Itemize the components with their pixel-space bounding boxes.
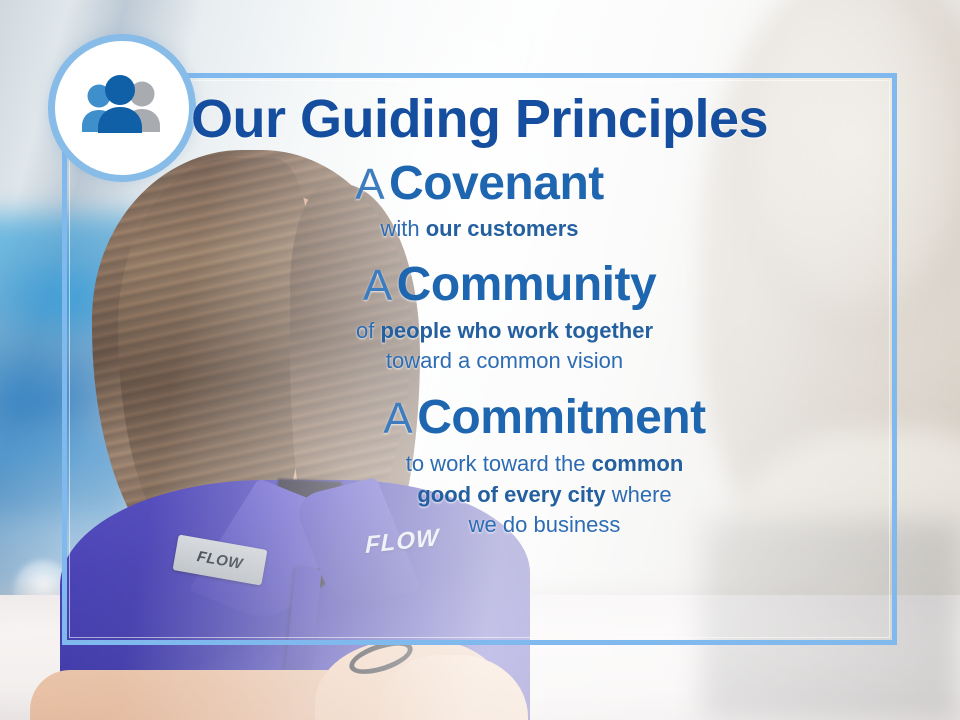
principle-subtext: with our customers — [92, 214, 867, 244]
principle-headline: A Commitment — [222, 392, 867, 445]
subtext-segment: toward a common vision — [386, 348, 623, 373]
subtext-segment-bold: good of every city — [417, 482, 605, 507]
subtext-segment: we do business — [469, 512, 621, 537]
principle-article: A — [355, 160, 384, 209]
principle-keyword: Commitment — [417, 391, 705, 444]
text-content: Our Guiding Principles A Covenant with o… — [62, 73, 897, 645]
subtext-segment-bold: common — [592, 451, 684, 476]
guiding-principles-graphic: FLOW FLOW Our Guiding Principles — [0, 0, 960, 720]
subtext-segment: of — [356, 318, 380, 343]
subtext-segment-bold: people who work together — [380, 318, 653, 343]
principle-headline: A Covenant — [92, 158, 867, 211]
principle-keyword: Community — [397, 258, 657, 311]
page-title: Our Guiding Principles — [92, 91, 867, 148]
subtext-segment: where — [606, 482, 672, 507]
subtext-segment-bold: our customers — [426, 216, 579, 241]
principle-commitment: A Commitment to work toward the common g… — [92, 392, 867, 540]
subtext-segment: to work toward the — [406, 451, 592, 476]
subtext-segment: with — [380, 216, 425, 241]
principle-headline: A Community — [152, 259, 867, 312]
principle-subtext: of people who work together toward a com… — [152, 316, 867, 377]
principle-article: A — [383, 394, 412, 443]
principle-keyword: Covenant — [389, 157, 604, 210]
principle-subtext: to work toward the common good of every … — [222, 449, 867, 540]
principle-article: A — [363, 261, 392, 310]
principle-covenant: A Covenant with our customers — [92, 158, 867, 245]
principle-community: A Community of people who work together … — [92, 259, 867, 377]
